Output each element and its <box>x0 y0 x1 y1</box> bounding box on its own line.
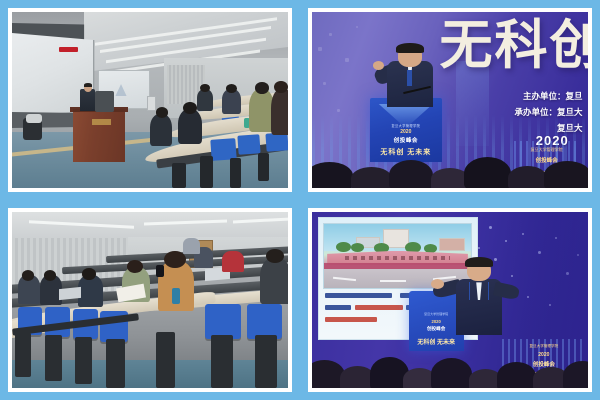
text-run-highlight <box>355 305 403 310</box>
speaker-hand <box>373 61 384 70</box>
audience-member <box>222 89 241 114</box>
seat-frame <box>258 153 269 181</box>
audience-head <box>274 81 288 93</box>
blue-seat <box>238 134 261 155</box>
speaker-tie <box>407 70 412 86</box>
seat-frame <box>211 335 233 388</box>
audience-member <box>150 114 172 146</box>
backdrop-sparkle <box>329 33 332 36</box>
tree <box>405 242 421 253</box>
audience-head <box>255 82 269 93</box>
tree <box>351 243 364 252</box>
audience-silhouettes <box>312 339 588 388</box>
podium-org-line: 复旦大学管理学院 <box>385 123 426 128</box>
audience-head <box>563 361 588 388</box>
trash-bin <box>147 96 155 110</box>
microphone-icon <box>156 265 164 277</box>
organizer-line: 主办单位：复旦 <box>514 89 582 105</box>
blue-seat <box>265 133 288 152</box>
backdrop-sparkle <box>356 26 358 28</box>
audience-member <box>197 89 214 110</box>
collage-cell-top-left <box>0 0 300 200</box>
speaker-hair <box>396 43 423 54</box>
audience-head <box>183 102 197 114</box>
collage-cell-bottom-right: 复旦大学管理学院 2020 创投峰会 无科创 无未来 复旦大学管理学院 2020… <box>300 200 600 400</box>
audience-head <box>82 268 96 279</box>
audience-head <box>497 362 536 388</box>
speaker-hair <box>465 257 492 268</box>
company-name-text <box>345 256 451 260</box>
photo-presentation-speaker: 复旦大学管理学院 2020 创投峰会 无科创 无未来 复旦大学管理学院 2020… <box>312 212 588 388</box>
podium-event-name: 创投峰会 <box>417 326 456 332</box>
tree <box>424 244 437 253</box>
audience-member <box>78 275 103 307</box>
audience-head <box>22 270 34 281</box>
audience-member <box>271 89 288 135</box>
backdrop-organizers: 主办单位：复旦 承办单位：复旦大 复旦大 <box>514 89 582 136</box>
photo-frame <box>8 8 292 192</box>
podium-emblem <box>92 119 111 124</box>
text-run-highlight <box>325 317 377 322</box>
audience-head <box>464 157 511 188</box>
seat-frame <box>156 332 175 388</box>
podium-year: 2020 <box>417 319 456 324</box>
audience-silhouettes <box>312 142 588 188</box>
water-bottle <box>172 288 180 304</box>
seat-frame <box>255 335 277 388</box>
collage-cell-bottom-left <box>0 200 300 400</box>
collage-cell-top-right: 无科创 主办单位：复旦 承办单位：复旦大 复旦大 2020 复旦大学管理学院 2… <box>300 0 600 200</box>
backdrop-dot <box>478 247 480 249</box>
seat-frame <box>75 337 92 385</box>
podium-year: 2020 <box>385 129 426 135</box>
seat-frame <box>45 335 62 381</box>
photo-collage: 无科创 主办单位：复旦 承办单位：复旦大 复旦大 2020 复旦大学管理学院 2… <box>0 0 600 400</box>
organizer-line: 承办单位：复旦大 <box>514 105 582 121</box>
audience-member <box>260 258 288 304</box>
audience-head <box>266 249 284 263</box>
text-run <box>325 293 392 298</box>
seat-frame <box>15 333 32 377</box>
speaker-lanyard <box>469 282 488 300</box>
tree <box>336 242 351 252</box>
blue-seat <box>247 304 283 339</box>
backdrop-sparkle <box>318 47 322 51</box>
exit-sign-icon <box>59 47 78 51</box>
audience-head <box>226 84 237 93</box>
audience-head <box>351 167 392 188</box>
backdrop-sparkle <box>345 58 349 62</box>
backdrop-dot <box>489 226 492 229</box>
backdrop-title: 无科创 <box>440 19 588 72</box>
backdrop-sparkle <box>337 109 340 112</box>
slide-campus-photo <box>323 223 472 288</box>
backdrop-sparkle <box>323 82 326 85</box>
audience-head <box>508 166 547 188</box>
audience-head <box>44 270 56 281</box>
speaker-hair <box>84 83 92 87</box>
wooden-podium <box>73 109 125 162</box>
audience-head <box>389 160 433 188</box>
photo-classroom-audience <box>12 212 288 388</box>
seat-frame <box>106 339 125 388</box>
speaker-body <box>80 89 95 110</box>
photo-frame <box>8 208 292 392</box>
photo-frame: 复旦大学管理学院 2020 创投峰会 无科创 无未来 复旦大学管理学院 2020… <box>308 208 592 392</box>
building <box>439 238 465 251</box>
audience-head <box>431 358 472 388</box>
photo-lecture-hall-speaker <box>12 12 288 188</box>
podium-monitor <box>95 91 114 112</box>
tree <box>374 243 389 253</box>
audience-head <box>544 161 588 188</box>
audience-member <box>222 251 244 272</box>
road-marking <box>380 280 406 282</box>
audience-head <box>127 260 144 273</box>
seat-frame <box>200 156 214 188</box>
photo-frame: 无科创 主办单位：复旦 承办单位：复旦大 复旦大 2020 复旦大学管理学院 2… <box>308 8 592 192</box>
blue-seat <box>205 304 241 339</box>
photo-conference-stage-keynote: 无科创 主办单位：复旦 承办单位：复旦大 复旦大 2020 复旦大学管理学院 2… <box>312 12 588 188</box>
text-run <box>325 305 351 310</box>
office-chair-back <box>26 114 43 123</box>
backdrop-dot <box>494 258 497 261</box>
audience-head <box>156 107 168 118</box>
laptop <box>59 287 81 300</box>
audience-member <box>183 238 200 254</box>
seat-frame <box>230 158 241 188</box>
audience-member <box>178 109 203 144</box>
seat-frame <box>172 163 186 188</box>
audience-head <box>312 162 353 188</box>
audience-head <box>200 84 210 92</box>
podium-org-line: 复旦大学管理学院 <box>417 312 456 316</box>
